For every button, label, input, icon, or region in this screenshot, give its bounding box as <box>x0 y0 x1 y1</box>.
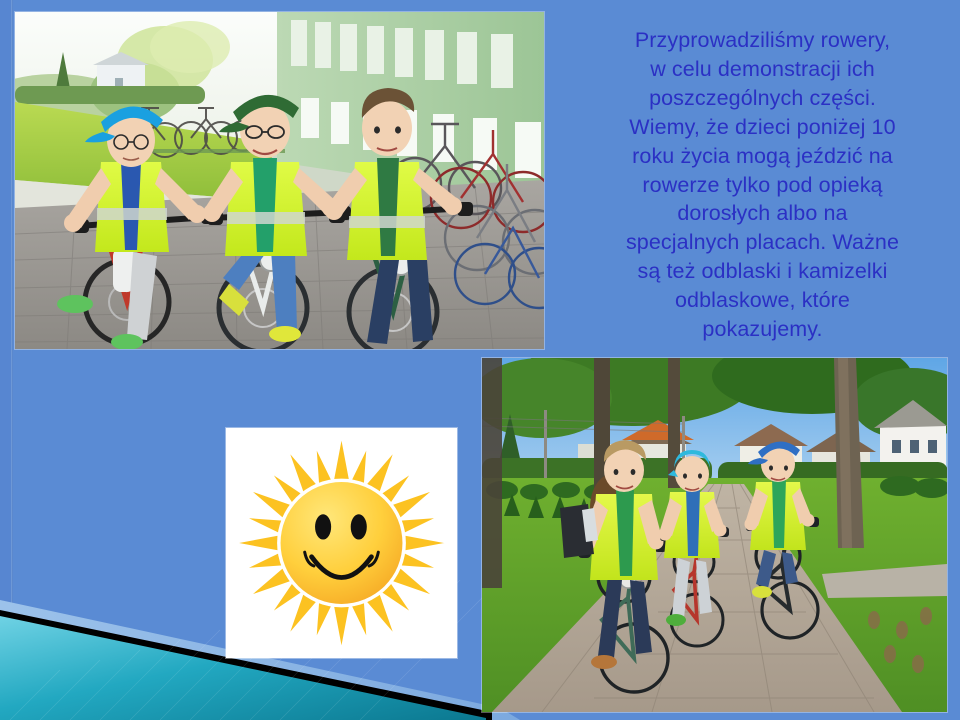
presentation-slide: Przyprowadziliśmy rowery, w celu demonst… <box>0 0 960 720</box>
sun-eye-right <box>351 514 367 539</box>
photo-three-boys-with-bicycles <box>15 12 544 349</box>
sun-face <box>281 482 403 604</box>
smiling-sun-clipart <box>226 428 457 658</box>
slide-body-text: Przyprowadziliśmy rowery, w celu demonst… <box>565 26 960 344</box>
photo-three-boys-riding-bicycles <box>482 358 947 712</box>
sun-eye-left <box>315 514 331 539</box>
